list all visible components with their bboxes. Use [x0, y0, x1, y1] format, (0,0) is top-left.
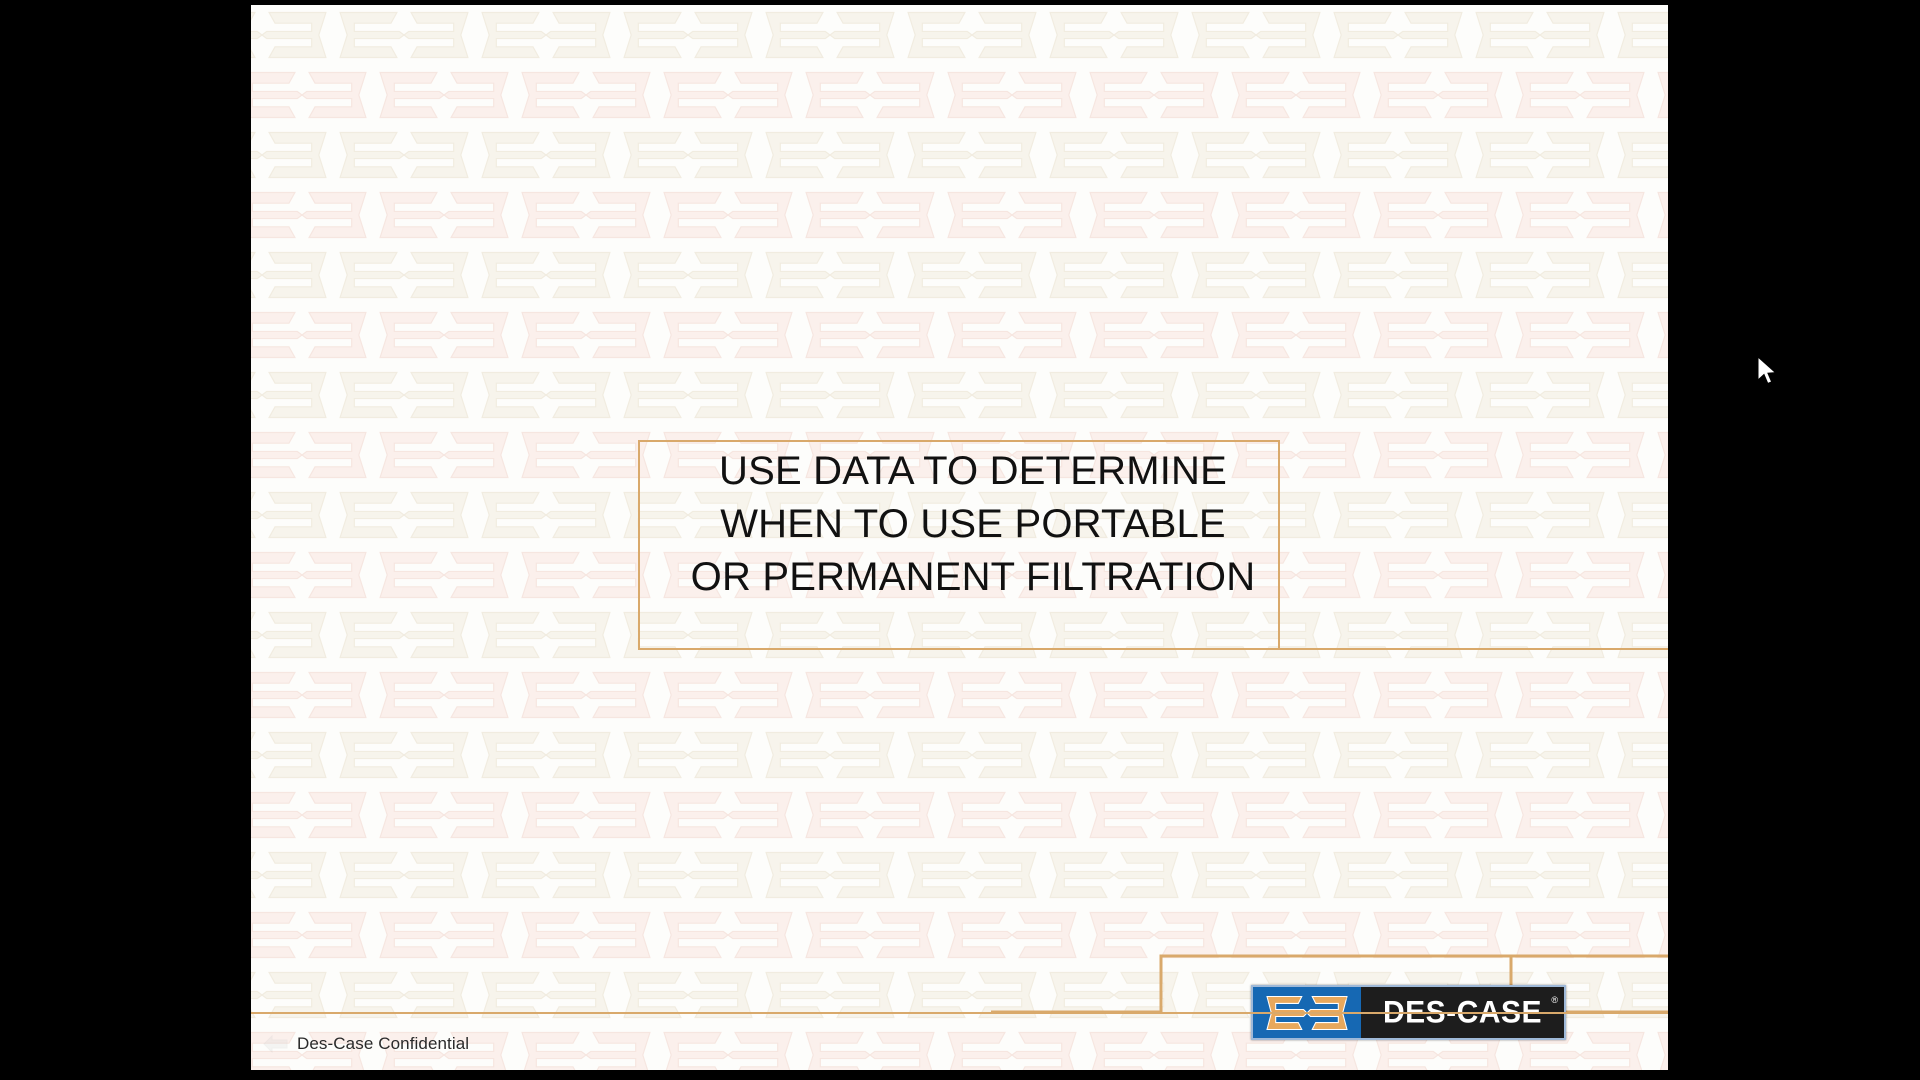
des-case-bowtie-watermark-icon — [1185, 246, 1327, 304]
des-case-bowtie-watermark-icon — [901, 6, 1043, 64]
watermark-row — [251, 5, 1668, 65]
des-case-bowtie-watermark-icon — [1043, 366, 1185, 424]
des-case-bowtie-watermark-icon — [799, 306, 941, 364]
des-case-bowtie-watermark-icon — [475, 606, 617, 664]
des-case-bowtie-watermark-icon — [1469, 726, 1611, 784]
des-case-bowtie-watermark-icon — [1367, 786, 1509, 844]
watermark-row — [251, 245, 1668, 305]
des-case-bowtie-watermark-icon — [901, 366, 1043, 424]
des-case-bowtie-watermark-icon — [1509, 186, 1651, 244]
watermark-row — [251, 785, 1668, 845]
pointer-arrow-icon — [263, 1033, 289, 1055]
des-case-bowtie-watermark-icon — [1611, 486, 1668, 544]
des-case-bowtie-watermark-icon — [1327, 366, 1469, 424]
des-case-bowtie-watermark-icon — [1327, 246, 1469, 304]
des-case-bowtie-watermark-icon — [333, 606, 475, 664]
des-case-bowtie-watermark-icon — [941, 786, 1083, 844]
des-case-bowtie-watermark-icon — [1043, 846, 1185, 904]
des-case-bowtie-watermark-icon — [1327, 486, 1469, 544]
des-case-bowtie-watermark-icon — [657, 786, 799, 844]
des-case-bowtie-watermark-icon — [1185, 126, 1327, 184]
des-case-bowtie-watermark-icon — [475, 726, 617, 784]
des-case-bowtie-watermark-icon — [617, 246, 759, 304]
des-case-bowtie-watermark-icon — [617, 366, 759, 424]
title-accent-rule — [1278, 648, 1668, 650]
mouse-cursor-arrow-icon — [1756, 356, 1778, 388]
des-case-bowtie-watermark-icon — [759, 966, 901, 1024]
des-case-bowtie-watermark-icon — [759, 6, 901, 64]
watermark-row — [251, 845, 1668, 905]
slide-canvas[interactable]: USE DATA TO DETERMINE WHEN TO USE PORTAB… — [251, 5, 1668, 1070]
des-case-bowtie-watermark-icon — [1611, 366, 1668, 424]
des-case-bowtie-watermark-icon — [1043, 246, 1185, 304]
des-case-bowtie-watermark-icon — [1367, 546, 1509, 604]
des-case-bowtie-watermark-icon — [941, 66, 1083, 124]
des-case-bowtie-watermark-icon — [251, 246, 333, 304]
des-case-bowtie-watermark-icon — [1225, 786, 1367, 844]
des-case-bowtie-watermark-icon — [1367, 666, 1509, 724]
des-case-bowtie-watermark-icon — [515, 186, 657, 244]
des-case-bowtie-watermark-icon — [617, 966, 759, 1024]
des-case-bowtie-watermark-icon — [1469, 606, 1611, 664]
des-case-bowtie-watermark-icon — [617, 126, 759, 184]
watermark-row — [251, 365, 1668, 425]
des-case-bowtie-watermark-icon — [373, 786, 515, 844]
des-case-bowtie-watermark-icon — [799, 186, 941, 244]
des-case-bowtie-watermark-icon — [941, 306, 1083, 364]
des-case-bowtie-watermark-icon — [373, 306, 515, 364]
des-case-bowtie-watermark-icon — [1611, 126, 1668, 184]
des-case-bowtie-watermark-icon — [251, 966, 333, 1024]
des-case-bowtie-watermark-icon — [251, 606, 333, 664]
des-case-bowtie-watermark-icon — [1225, 186, 1367, 244]
des-case-bowtie-watermark-icon — [1225, 666, 1367, 724]
des-case-bowtie-watermark-icon — [333, 6, 475, 64]
des-case-bowtie-watermark-icon — [333, 486, 475, 544]
des-case-bowtie-watermark-icon — [901, 126, 1043, 184]
des-case-bowtie-watermark-icon — [799, 66, 941, 124]
des-case-bowtie-watermark-icon — [1509, 306, 1651, 364]
des-case-bowtie-watermark-icon — [657, 906, 799, 964]
des-case-bowtie-watermark-icon — [617, 846, 759, 904]
des-case-bowtie-watermark-icon — [475, 846, 617, 904]
des-case-bowtie-watermark-icon — [1469, 126, 1611, 184]
des-case-bowtie-watermark-icon — [1083, 186, 1225, 244]
des-case-bowtie-watermark-icon — [1083, 786, 1225, 844]
des-case-bowtie-watermark-icon — [251, 66, 373, 124]
des-case-bowtie-watermark-icon — [475, 966, 617, 1024]
watermark-row — [251, 305, 1668, 365]
des-case-bowtie-watermark-icon — [333, 366, 475, 424]
des-case-bowtie-watermark-icon — [1469, 486, 1611, 544]
des-case-bowtie-watermark-icon — [1651, 186, 1668, 244]
des-case-bowtie-watermark-icon — [901, 726, 1043, 784]
des-case-bowtie-watermark-icon — [515, 906, 657, 964]
des-case-bowtie-watermark-icon — [1651, 306, 1668, 364]
des-case-bowtie-watermark-icon — [759, 366, 901, 424]
des-case-bowtie-watermark-icon — [251, 306, 373, 364]
des-case-bowtie-watermark-icon — [759, 726, 901, 784]
des-case-bowtie-watermark-icon — [251, 666, 373, 724]
des-case-bowtie-watermark-icon — [1651, 426, 1668, 484]
des-case-bowtie-watermark-icon — [373, 546, 515, 604]
des-case-bowtie-watermark-icon — [1611, 846, 1668, 904]
des-case-bowtie-watermark-icon — [251, 186, 373, 244]
des-case-bowtie-watermark-icon — [759, 846, 901, 904]
des-case-bowtie-watermark-icon — [251, 126, 333, 184]
des-case-bowtie-watermark-icon — [1327, 726, 1469, 784]
footer-divider-rule — [251, 1012, 1668, 1014]
des-case-bowtie-watermark-icon — [1225, 66, 1367, 124]
des-case-bowtie-watermark-icon — [1611, 246, 1668, 304]
des-case-bowtie-watermark-icon — [1043, 126, 1185, 184]
des-case-bowtie-watermark-icon — [1367, 186, 1509, 244]
des-case-bowtie-watermark-icon — [1651, 786, 1668, 844]
des-case-bowtie-watermark-icon — [1185, 366, 1327, 424]
des-case-bowtie-watermark-icon — [333, 846, 475, 904]
watermark-row — [251, 185, 1668, 245]
des-case-bowtie-watermark-icon — [373, 906, 515, 964]
registered-trademark-mark: ® — [1551, 995, 1558, 1005]
des-case-bowtie-watermark-icon — [941, 186, 1083, 244]
des-case-bowtie-watermark-icon — [617, 6, 759, 64]
des-case-bowtie-watermark-icon — [1469, 246, 1611, 304]
des-case-bowtie-watermark-icon — [475, 126, 617, 184]
des-case-bowtie-watermark-icon — [515, 306, 657, 364]
des-case-bowtie-watermark-icon — [657, 306, 799, 364]
des-case-bowtie-watermark-icon — [251, 6, 333, 64]
watermark-row — [251, 125, 1668, 185]
des-case-bowtie-watermark-icon — [1367, 426, 1509, 484]
des-case-bowtie-watermark-icon — [1327, 126, 1469, 184]
des-case-bowtie-watermark-icon — [1367, 306, 1509, 364]
des-case-bowtie-watermark-icon — [373, 426, 515, 484]
watermark-row — [251, 665, 1668, 725]
des-case-bowtie-watermark-icon — [901, 246, 1043, 304]
des-case-bowtie-watermark-icon — [1083, 66, 1225, 124]
des-case-bowtie-watermark-icon — [251, 366, 333, 424]
des-case-bowtie-watermark-icon — [251, 546, 373, 604]
des-case-bowtie-watermark-icon — [373, 66, 515, 124]
des-case-bowtie-watermark-icon — [759, 126, 901, 184]
des-case-bowtie-watermark-icon — [515, 666, 657, 724]
des-case-bowtie-watermark-icon — [475, 486, 617, 544]
des-case-bowtie-watermark-icon — [1611, 726, 1668, 784]
des-case-bowtie-watermark-icon — [799, 786, 941, 844]
slide-title: USE DATA TO DETERMINE WHEN TO USE PORTAB… — [623, 445, 1323, 604]
des-case-bowtie-watermark-icon — [333, 126, 475, 184]
des-case-bowtie-watermark-icon — [475, 246, 617, 304]
des-case-bowtie-watermark-icon — [1043, 6, 1185, 64]
des-case-bowtie-watermark-icon — [1469, 366, 1611, 424]
des-case-bowtie-watermark-icon — [657, 66, 799, 124]
des-case-bowtie-watermark-icon — [1185, 726, 1327, 784]
des-case-bowtie-watermark-icon — [901, 846, 1043, 904]
des-case-bowtie-watermark-icon — [251, 786, 373, 844]
des-case-bowtie-watermark-icon — [373, 186, 515, 244]
des-case-bowtie-watermark-icon — [475, 366, 617, 424]
des-case-bowtie-watermark-icon — [1651, 66, 1668, 124]
des-case-bowtie-watermark-icon — [1611, 606, 1668, 664]
des-case-bowtie-watermark-icon — [799, 666, 941, 724]
des-case-bowtie-watermark-icon — [1509, 66, 1651, 124]
des-case-bowtie-watermark-icon — [759, 246, 901, 304]
des-case-bowtie-watermark-icon — [373, 666, 515, 724]
des-case-bowtie-watermark-icon — [1651, 546, 1668, 604]
des-case-bowtie-watermark-icon — [333, 966, 475, 1024]
des-case-bowtie-watermark-icon — [1043, 726, 1185, 784]
des-case-bowtie-watermark-icon — [1509, 546, 1651, 604]
des-case-bowtie-watermark-icon — [1185, 846, 1327, 904]
des-case-bowtie-watermark-icon — [799, 906, 941, 964]
footer-label: Des-Case Confidential — [297, 1034, 469, 1054]
des-case-bowtie-watermark-icon — [1083, 666, 1225, 724]
des-case-bowtie-watermark-icon — [1509, 666, 1651, 724]
des-case-bowtie-watermark-icon — [1327, 606, 1469, 664]
des-case-bowtie-watermark-icon — [251, 486, 333, 544]
des-case-bowtie-watermark-icon — [333, 726, 475, 784]
des-case-bowtie-watermark-icon — [1469, 6, 1611, 64]
des-case-bowtie-watermark-icon — [1327, 6, 1469, 64]
des-case-bowtie-watermark-icon — [333, 246, 475, 304]
watermark-row — [251, 725, 1668, 785]
des-case-bowtie-watermark-icon — [1083, 306, 1225, 364]
presentation-viewer: USE DATA TO DETERMINE WHEN TO USE PORTAB… — [0, 0, 1920, 1080]
des-case-bowtie-watermark-icon — [1185, 6, 1327, 64]
des-case-bowtie-watermark-icon — [1469, 846, 1611, 904]
des-case-bowtie-watermark-icon — [1509, 786, 1651, 844]
des-case-bowtie-watermark-icon — [515, 786, 657, 844]
des-case-bowtie-watermark-icon — [657, 186, 799, 244]
des-case-bowtie-watermark-icon — [251, 846, 333, 904]
des-case-bowtie-watermark-icon — [475, 6, 617, 64]
des-case-bowtie-watermark-icon — [1651, 666, 1668, 724]
des-case-bowtie-watermark-icon — [1327, 846, 1469, 904]
des-case-bowtie-watermark-icon — [251, 726, 333, 784]
des-case-bowtie-watermark-icon — [1611, 6, 1668, 64]
des-case-bowtie-watermark-icon — [617, 726, 759, 784]
des-case-bowtie-watermark-icon — [251, 906, 373, 964]
des-case-bowtie-watermark-icon — [657, 666, 799, 724]
des-case-bowtie-watermark-icon — [1367, 66, 1509, 124]
des-case-bowtie-watermark-icon — [1225, 306, 1367, 364]
des-case-bowtie-watermark-icon — [1509, 426, 1651, 484]
des-case-bowtie-watermark-icon — [941, 666, 1083, 724]
des-case-bowtie-watermark-icon — [251, 426, 373, 484]
slide-footer: Des-Case Confidential — [251, 1017, 1668, 1070]
watermark-row — [251, 65, 1668, 125]
des-case-bowtie-watermark-icon — [515, 66, 657, 124]
